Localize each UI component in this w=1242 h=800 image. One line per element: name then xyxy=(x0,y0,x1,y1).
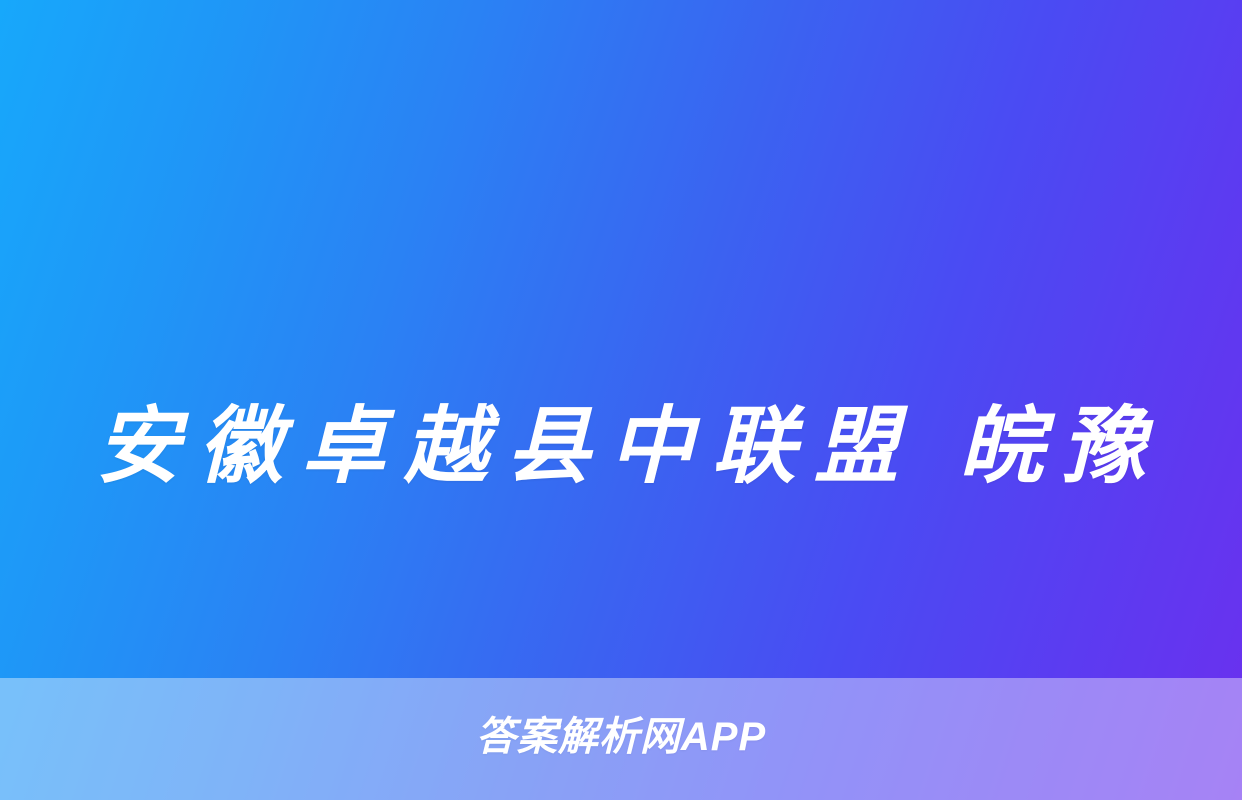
watermark-band: 答案解析网APP xyxy=(0,678,1242,800)
exam-title-card: 安徽卓越县中联盟 皖豫 名校联盟 2023-2024学 年高一第二学期期中检测 … xyxy=(0,0,1242,800)
watermark-label: 答案解析网APP xyxy=(476,717,766,761)
title-line-1: 安徽卓越县中联盟 皖豫 xyxy=(96,378,1146,515)
